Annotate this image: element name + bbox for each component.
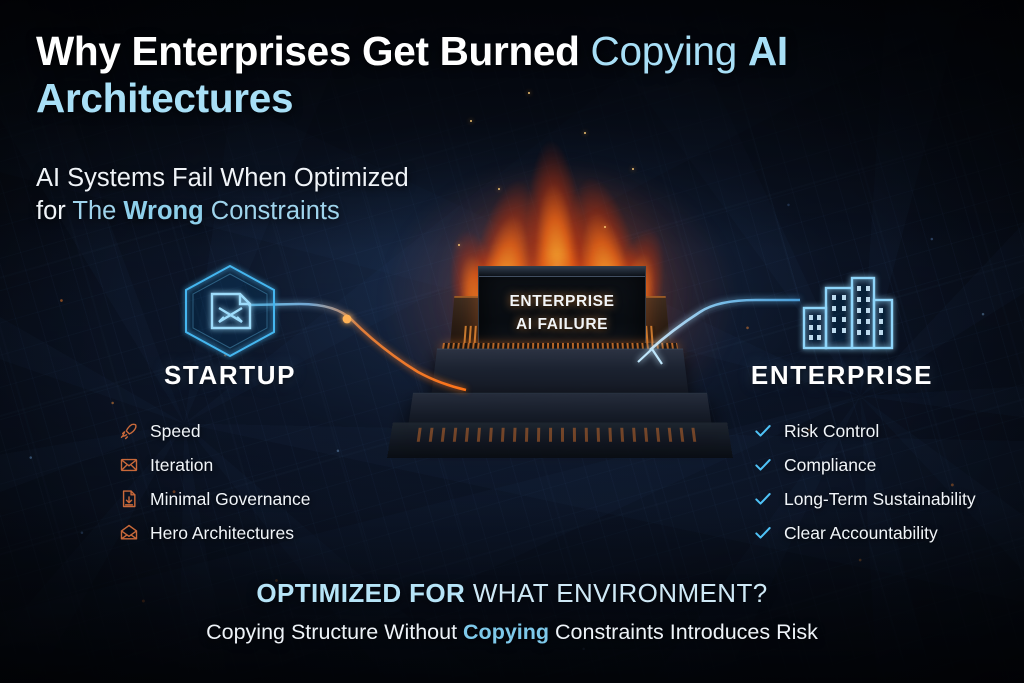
enterprise-label: ENTERPRISE xyxy=(720,360,964,391)
subtitle-line-1: AI Systems Fail When Optimized xyxy=(36,164,409,192)
check-icon xyxy=(752,488,774,510)
list-item-label: Clear Accountability xyxy=(784,523,938,544)
title-part-1: Why Enterprises Get Burned xyxy=(36,28,591,74)
screen-text-line1: ENTERPRISE xyxy=(509,293,614,310)
check-icon xyxy=(752,522,774,544)
spark xyxy=(604,226,606,228)
list-item[interactable]: Iteration xyxy=(118,448,388,482)
infographic-canvas: ENTERPRISE AI FAILURE xyxy=(0,0,1024,683)
subtitle-prefix: for xyxy=(36,197,72,225)
iteration-envelope-icon xyxy=(118,454,140,476)
hexagon-rocket-document-icon xyxy=(174,260,286,360)
enterprise-attribute-list: Risk Control Compliance Long-Term Sustai… xyxy=(752,414,1012,550)
screen-text-line2: AI FAILURE xyxy=(516,316,608,333)
startup-attribute-list: Speed Iteration Minimal G xyxy=(118,414,388,550)
spark xyxy=(584,132,586,134)
spark xyxy=(632,168,634,170)
page-subtitle: AI Systems Fail When Optimized for The W… xyxy=(36,162,596,228)
list-item[interactable]: Risk Control xyxy=(752,414,1012,448)
list-item-label: Long-Term Sustainability xyxy=(784,489,976,510)
subtitle-suffix: Constraints xyxy=(204,197,340,225)
list-item[interactable]: Minimal Governance xyxy=(118,482,388,516)
enterprise-icon-wrap xyxy=(720,262,964,358)
list-item-label: Minimal Governance xyxy=(150,489,310,510)
list-item-label: Risk Control xyxy=(784,421,879,442)
rocket-icon xyxy=(118,420,140,442)
list-item-label: Speed xyxy=(150,421,201,442)
list-item[interactable]: Clear Accountability xyxy=(752,516,1012,550)
footer-statement: Copying Structure Without Copying Constr… xyxy=(0,620,1024,645)
title-part-4: Architectures xyxy=(36,75,293,121)
chip-base-lower xyxy=(387,423,733,458)
subtitle-the: The xyxy=(72,197,123,225)
list-item[interactable]: Compliance xyxy=(752,448,1012,482)
screen-top-bar xyxy=(479,267,645,277)
footer-question-bold: OPTIMIZED FOR xyxy=(256,578,472,608)
footer-statement-accent: Copying xyxy=(463,620,549,644)
list-item-label: Hero Architectures xyxy=(150,523,294,544)
subtitle-wrong: Wrong xyxy=(123,197,203,225)
footer-question-light: WHAT ENVIRONMENT? xyxy=(473,578,768,608)
footer-question: OPTIMIZED FOR WHAT ENVIRONMENT? xyxy=(0,578,1024,609)
startup-hexagon-icon-wrap xyxy=(122,262,338,358)
document-download-icon xyxy=(118,488,140,510)
burning-server-chip: ENTERPRISE AI FAILURE xyxy=(380,250,740,480)
startup-label: STARTUP xyxy=(122,360,338,391)
list-item[interactable]: Hero Architectures xyxy=(118,516,388,550)
spark xyxy=(458,244,460,246)
page-title: Why Enterprises Get Burned Copying AI Ar… xyxy=(36,28,836,123)
list-item[interactable]: Long-Term Sustainability xyxy=(752,482,1012,516)
list-item-label: Iteration xyxy=(150,455,213,476)
check-icon xyxy=(752,420,774,442)
title-part-3: AI xyxy=(748,28,788,74)
footer-statement-suffix: Constraints Introduces Risk xyxy=(549,620,818,644)
enterprise-node[interactable]: ENTERPRISE xyxy=(720,262,964,391)
check-icon xyxy=(752,454,774,476)
hero-envelope-icon xyxy=(118,522,140,544)
list-item[interactable]: Speed xyxy=(118,414,388,448)
startup-node[interactable]: STARTUP xyxy=(122,262,338,391)
title-part-2: Copying xyxy=(591,28,748,74)
office-buildings-icon xyxy=(782,260,902,360)
footer-statement-prefix: Copying Structure Without xyxy=(206,620,463,644)
list-item-label: Compliance xyxy=(784,455,876,476)
